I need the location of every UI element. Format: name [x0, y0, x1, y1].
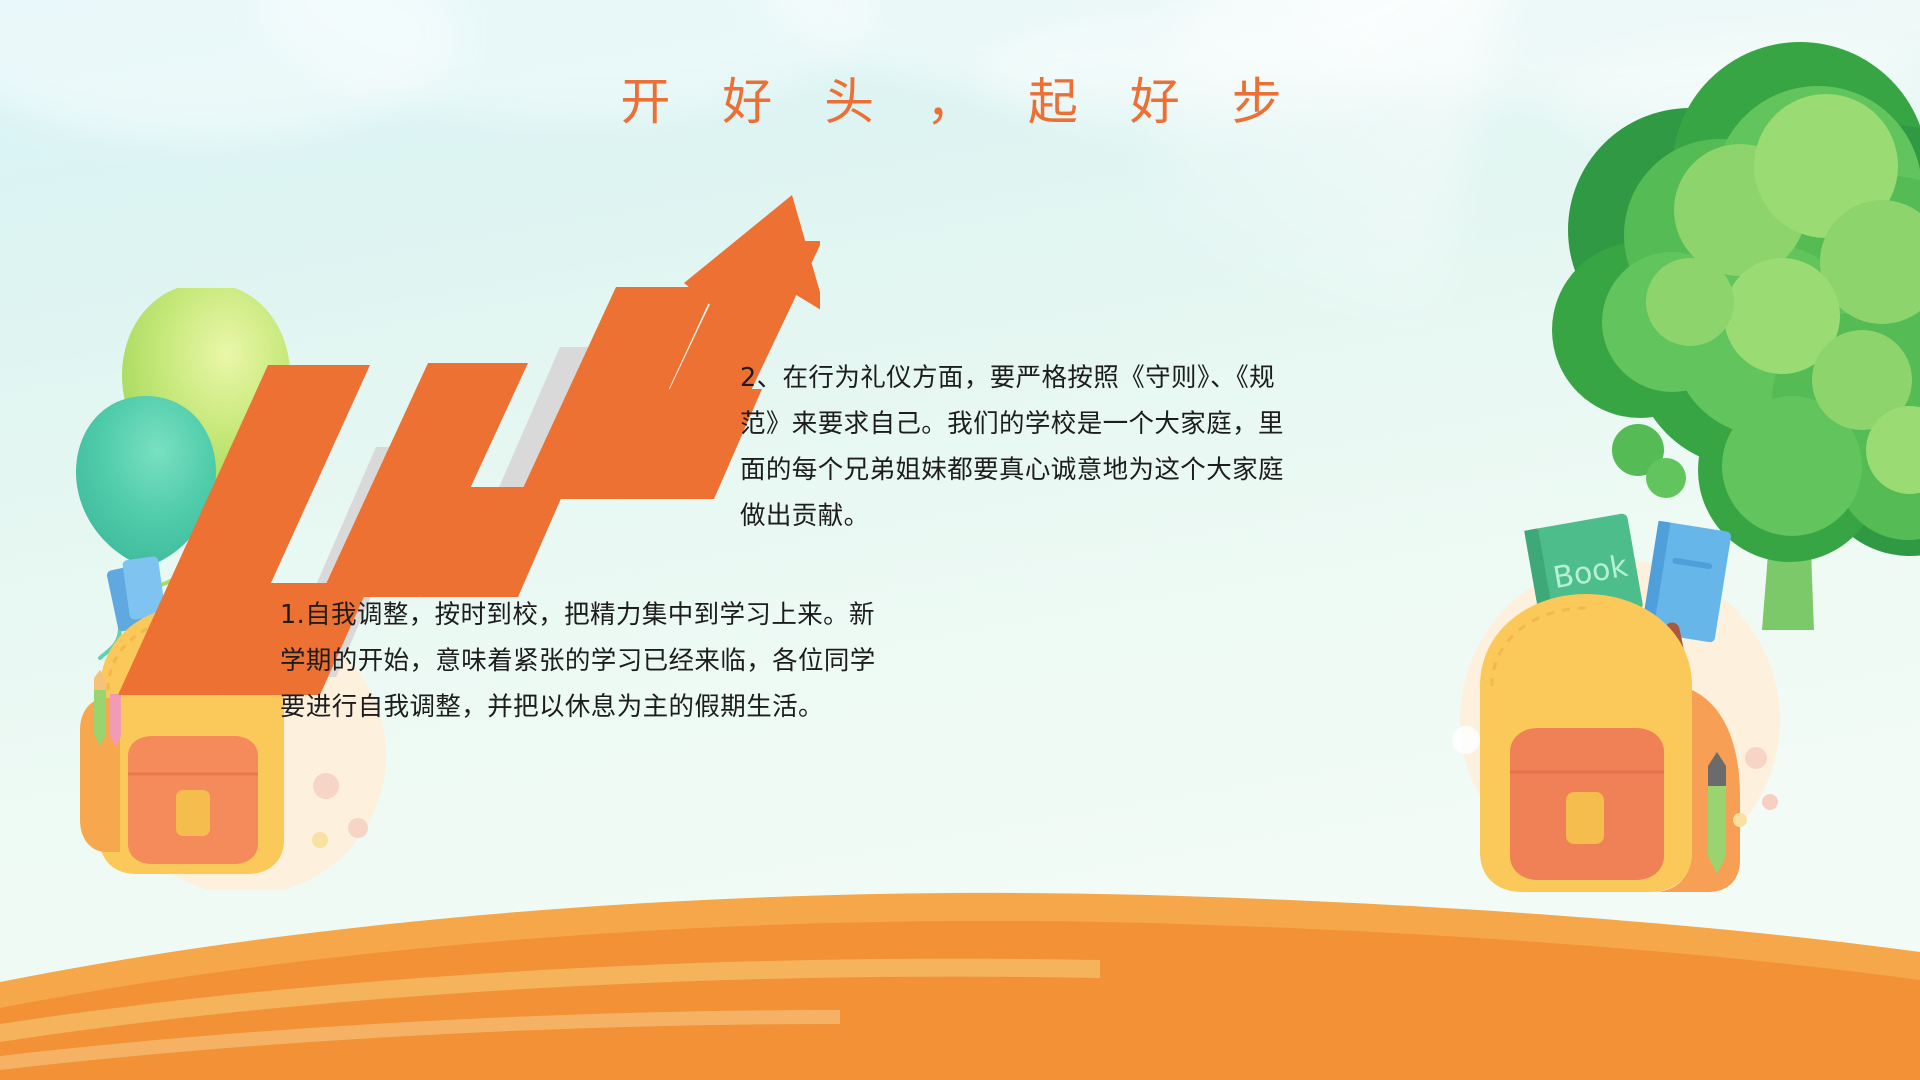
backpack-right: Book — [1440, 490, 1860, 910]
paragraph-two: 2、在行为礼仪方面，要严格按照《守则》、《规范》来要求自己。我们的学校是一个大家… — [740, 355, 1300, 539]
orange-ground-band — [0, 860, 1920, 1080]
paragraph-one: 1.自我调整，按时到校，把精力集中到学习上来。新学期的开始，意味着紧张的学习已经… — [280, 592, 880, 730]
slide-canvas: 开 好 头 ， 起 好 步 — [0, 0, 1920, 1080]
